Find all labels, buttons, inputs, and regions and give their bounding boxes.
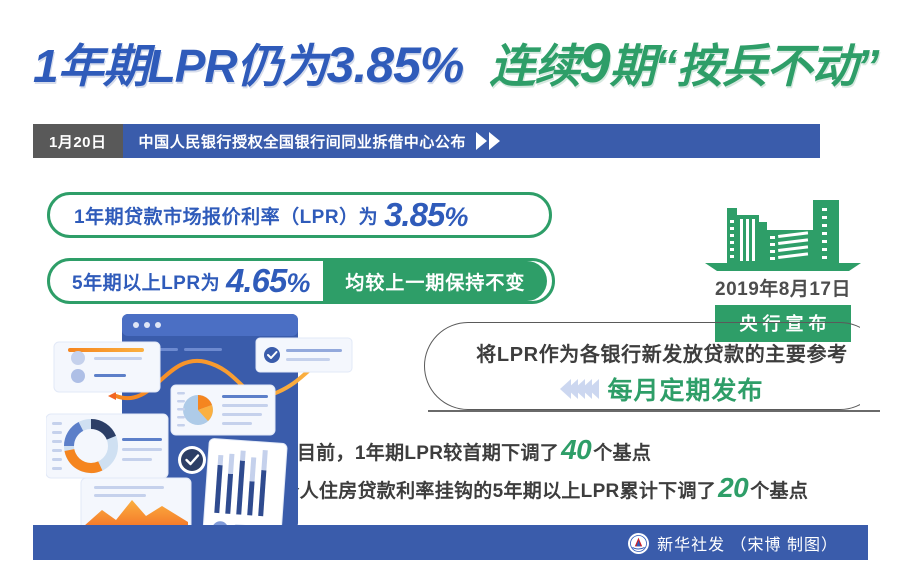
subheader-headline-text: 中国人民银行授权全国银行间同业拆借中心公布 [139,131,467,152]
city-buildings-icon [688,194,878,272]
unchanged-tag: 均较上一期保持不变 [323,261,547,301]
stat-1-value: 40 [561,434,591,465]
announcement-date: 2019年8月17日 [688,274,878,301]
double-chevron-right-icon [476,132,500,150]
subheader-headline-container: 中国人民银行授权全国银行间同业拆借中心公布 [123,124,820,158]
stat-2-suffix: 个基点 [750,481,808,502]
title-green-text2: 期 [610,40,655,92]
central-bank-announcement-badge: 2019年8月17日 央行宣布 [688,194,878,342]
title-blue-value: 3.85% [327,37,464,93]
rate-card-1year: 1年期贷款市场报价利率（LPR）为 3.85% [47,192,552,238]
rate-1year-value: 3.85 [384,196,444,233]
publish-date-badge: 1月20日 [33,124,123,158]
rate-card-5year: 5年期以上LPR为 4.65% 均较上一期保持不变 [47,258,555,304]
title-blue-text1: 1年期 [33,40,148,92]
rate-5year-label: 5年期以上LPR为 [72,268,220,295]
rate-1year-value-group: 3.85% [384,196,467,234]
data-dashboard-illustration [46,300,356,545]
callout-line-1: 将LPR作为各银行新发放贷款的主要参考 [452,338,872,367]
title-green-segment: 连续9期“按兵不动” [489,30,878,96]
rate-1year-unit: % [444,202,467,232]
infographic-canvas: 1年期LPR仍为3.85% 连续9期“按兵不动” 1月20日 中国人民银行授权全… [0,0,900,587]
callout-underline-divider [428,410,880,412]
title-green-value: 9 [579,31,609,94]
title-green-quote: “按兵不动” [655,40,879,92]
stat-1-suffix: 个基点 [593,443,651,464]
title-blue-lpr: LPR [148,40,237,92]
rate-1year-label: 1年期贷款市场报价利率（LPR）为 [74,202,378,229]
chevron-left-group-icon [560,379,595,399]
callout-line-2: 每月定期发布 [452,372,872,406]
title-blue-text2: 仍为 [237,40,327,92]
footer-credit: 新华社发 （宋博 制图） [628,532,838,554]
rate-5year-value: 4.65 [226,262,286,299]
xinhua-logo-icon [628,533,649,554]
stat-2-value: 20 [718,472,748,503]
subheader-bar: 1月20日 中国人民银行授权全国银行间同业拆借中心公布 [33,124,820,158]
rate-5year-value-group: 4.65% [226,262,309,300]
title-blue-segment: 1年期LPR仍为3.85% [33,30,463,96]
rate-5year-unit: % [286,268,309,298]
title-green-text1: 连续 [489,40,579,92]
page-title: 1年期LPR仍为3.85% 连续9期“按兵不动” [33,28,873,98]
footer-credit-text: 新华社发 （宋博 制图） [657,531,838,555]
callout-highlight-text: 每月定期发布 [607,371,763,407]
